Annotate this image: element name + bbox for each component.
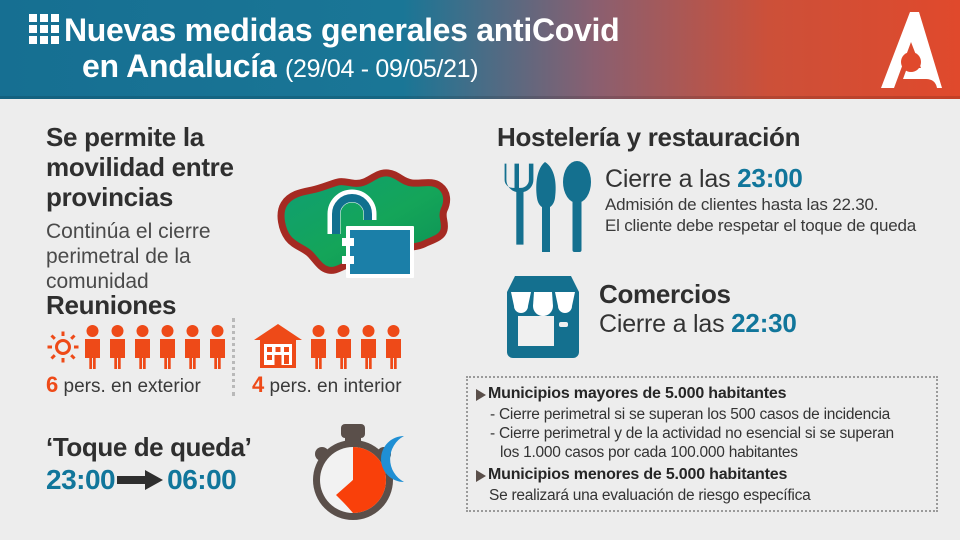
- triangle-right-icon: [474, 469, 488, 483]
- curfew-title: ‘Toque de queda’: [46, 432, 251, 462]
- person-icon: [382, 324, 405, 370]
- exterior-count: 6: [46, 372, 58, 397]
- person-icon: [131, 324, 154, 370]
- curfew-section: ‘Toque de queda’ 23:00 06:00: [46, 432, 251, 496]
- rule-group-1-item-1: - Cierre perimetral si se superan los 50…: [474, 405, 928, 424]
- person-icon: [106, 324, 129, 370]
- rule-group-2-item-1: Se realizará una evaluación de riesgo es…: [474, 486, 928, 505]
- page-title-line2: en Andalucía (29/04 - 09/05/21): [82, 48, 854, 87]
- header-bottom-shadow: [0, 96, 960, 99]
- comercios-close-time: 22:30: [731, 308, 797, 338]
- rule-group-1-heading: Municipios mayores de 5.000 habitantes: [474, 384, 928, 404]
- exterior-caption: 6 pers. en exterior: [46, 374, 229, 398]
- header-banner: Nuevas medidas generales antiCovid en An…: [0, 0, 960, 99]
- reuniones-interior-group: 4 pers. en interior: [252, 322, 405, 398]
- reuniones-heading: Reuniones: [46, 290, 176, 321]
- exterior-caption-text: pers. en exterior: [58, 376, 201, 397]
- hosteleria-section: Hostelería y restauración Cierre a las 2…: [497, 122, 947, 256]
- exterior-people-icons: [81, 324, 229, 370]
- person-icon: [307, 324, 330, 370]
- interior-people-icons: [307, 324, 405, 370]
- interior-count: 4: [252, 372, 264, 397]
- shop-icon: [497, 272, 589, 360]
- rule-group-1-heading-text: Municipios mayores de 5.000 habitantes: [488, 384, 786, 404]
- comercios-section: Comercios Cierre a las 22:30: [497, 272, 797, 360]
- grid-icon: [29, 14, 59, 44]
- person-icon: [156, 324, 179, 370]
- sun-icon: [46, 330, 80, 364]
- hosteleria-close-time: 23:00: [737, 163, 803, 193]
- infographic-page: Nuevas medidas generales antiCovid en An…: [0, 0, 960, 540]
- page-title-region: en Andalucía: [82, 48, 276, 84]
- reuniones-exterior-group: 6 pers. en exterior: [46, 322, 229, 398]
- comercios-close-line: Cierre a las 22:30: [599, 309, 797, 339]
- page-title-line1: Nuevas medidas generales antiCovid: [64, 12, 854, 48]
- stopwatch-icon: [300, 422, 430, 527]
- hosteleria-note-2: El cliente debe respetar el toque de que…: [605, 215, 916, 236]
- rule-group-2-heading: Municipios menores de 5.000 habitantes: [474, 465, 928, 485]
- hosteleria-close-line: Cierre a las 23:00: [605, 164, 916, 194]
- fork-knife-spoon-icon: [497, 158, 597, 256]
- hosteleria-heading: Hostelería y restauración: [497, 122, 947, 152]
- comercios-heading: Comercios: [599, 280, 797, 309]
- house-icon: [252, 322, 304, 370]
- reuniones-divider: [232, 318, 235, 396]
- person-icon: [206, 324, 229, 370]
- rule-group-1-item-2b: los 1.000 casos por cada 100.000 habitan…: [474, 443, 928, 462]
- person-icon: [181, 324, 204, 370]
- interior-caption-text: pers. en interior: [264, 376, 401, 397]
- curfew-end-time: 06:00: [167, 464, 236, 496]
- rule-group-1-item-2a: - Cierre perimetral y de la actividad no…: [474, 424, 928, 443]
- header-title-block: Nuevas medidas generales antiCovid en An…: [64, 12, 854, 87]
- comercios-close-label: Cierre a las: [599, 310, 731, 338]
- mobility-subtext: Continúa el cierre perimetral de la comu…: [46, 219, 246, 294]
- municipalities-rules-box: Municipios mayores de 5.000 habitantes -…: [466, 376, 938, 512]
- person-icon: [357, 324, 380, 370]
- interior-caption: 4 pers. en interior: [252, 374, 405, 398]
- curfew-times: 23:00 06:00: [46, 464, 251, 496]
- page-title-dates: (29/04 - 09/05/21): [285, 55, 478, 83]
- hosteleria-close-label: Cierre a las: [605, 165, 737, 193]
- exterior-pictograms: [46, 322, 229, 370]
- rule-group-2-heading-text: Municipios menores de 5.000 habitantes: [488, 465, 787, 485]
- hosteleria-note-1: Admisión de clientes hasta las 22.30.: [605, 194, 916, 215]
- andalucia-a-logo-icon: [874, 8, 948, 92]
- interior-pictograms: [252, 322, 405, 370]
- curfew-start-time: 23:00: [46, 464, 115, 496]
- person-icon: [81, 324, 104, 370]
- triangle-right-icon: [474, 388, 488, 402]
- arrow-right-icon: [117, 468, 165, 492]
- andalucia-map-icon: [272, 160, 462, 285]
- person-icon: [332, 324, 355, 370]
